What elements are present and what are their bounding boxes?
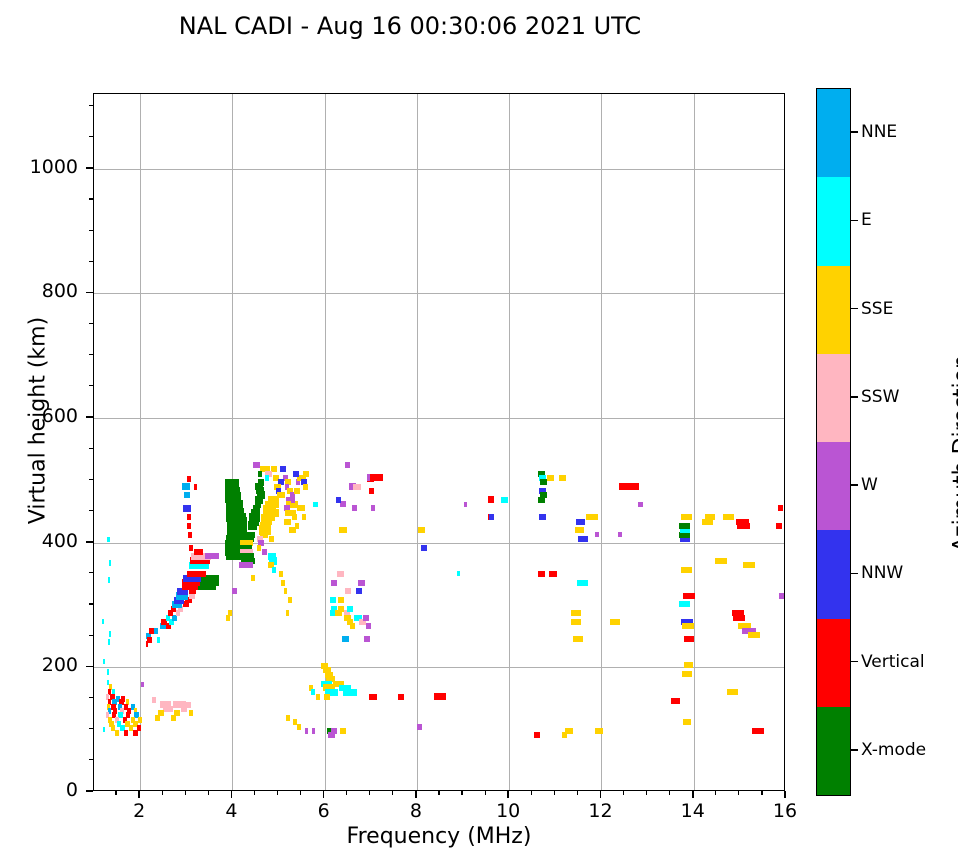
x-tick-minor [669, 791, 670, 795]
y-tick-minor [89, 354, 93, 355]
data-point [727, 689, 738, 695]
data-point [194, 549, 203, 555]
colorbar-tick [851, 749, 858, 751]
y-tick-minor [89, 572, 93, 573]
data-point [194, 484, 198, 490]
x-tick [138, 791, 140, 798]
data-point [311, 689, 316, 695]
colorbar-segment-nnw[interactable] [817, 530, 850, 618]
data-point [364, 636, 370, 642]
data-point [137, 725, 141, 731]
data-point [147, 637, 153, 643]
data-point [313, 502, 318, 507]
data-point [571, 619, 581, 625]
x-tick-minor [115, 791, 116, 795]
x-tick [784, 791, 786, 798]
data-point [107, 669, 109, 675]
data-point [272, 567, 277, 573]
y-tick-minor [89, 230, 93, 231]
data-point [343, 689, 358, 696]
colorbar-tick [851, 308, 858, 310]
data-point [363, 615, 369, 621]
data-point [595, 532, 600, 537]
x-tick-minor [715, 791, 716, 795]
data-point [705, 514, 715, 520]
x-tick-minor [208, 791, 209, 795]
plot-area[interactable] [93, 93, 785, 791]
data-point [559, 475, 566, 481]
data-point [345, 462, 351, 468]
y-tick-minor [89, 759, 93, 760]
data-point [303, 471, 309, 477]
data-point [316, 694, 320, 700]
data-point [638, 502, 643, 507]
data-point [679, 601, 690, 607]
data-point [292, 514, 297, 520]
data-point [682, 671, 692, 677]
colorbar-segment-x-mode[interactable] [817, 707, 850, 795]
data-point [339, 527, 347, 533]
x-tick-label: 8 [386, 800, 446, 822]
colorbar-label-nnw: NNW [861, 563, 903, 583]
x-tick-minor [646, 791, 647, 795]
x-tick-minor [554, 791, 555, 795]
data-point [539, 514, 545, 520]
data-point [330, 597, 336, 603]
page-title: NAL CADI - Aug 16 00:30:06 2021 UTC [0, 12, 820, 40]
data-point [184, 492, 190, 498]
data-point [115, 730, 120, 736]
colorbar-tick [851, 396, 858, 398]
data-point [743, 562, 755, 568]
data-point [286, 610, 289, 616]
x-tick [507, 791, 509, 798]
data-point [335, 610, 341, 616]
data-point [279, 571, 284, 577]
data-point [239, 562, 253, 568]
data-point [778, 505, 783, 511]
data-point [295, 523, 300, 529]
data-point [302, 514, 307, 520]
data-point [578, 536, 588, 542]
y-tick-minor [89, 479, 93, 480]
y-tick [86, 666, 93, 668]
x-tick-minor [531, 791, 532, 795]
x-tick [323, 791, 325, 798]
data-point [358, 580, 364, 586]
data-point [779, 593, 784, 599]
data-point [281, 580, 285, 586]
data-point [534, 732, 540, 738]
data-point [752, 728, 764, 734]
data-point [108, 639, 110, 645]
data-point [103, 727, 105, 732]
x-tick-minor [761, 791, 762, 795]
y-tick-minor [89, 323, 93, 324]
data-point [297, 724, 301, 730]
x-tick-minor [392, 791, 393, 795]
data-point [171, 715, 177, 721]
x-tick-minor [162, 791, 163, 795]
data-point [681, 567, 692, 573]
data-point [369, 488, 375, 494]
data-point [671, 698, 680, 704]
data-point [189, 545, 194, 551]
y-tick [86, 167, 93, 169]
data-point [748, 632, 760, 638]
colorbar-tick [851, 661, 858, 663]
y-tick [86, 541, 93, 543]
data-point [288, 597, 291, 603]
data-point [347, 606, 353, 612]
data-point [538, 497, 544, 503]
y-tick-minor [89, 136, 93, 137]
data-point [103, 659, 105, 664]
data-point [324, 694, 330, 700]
data-point [371, 505, 376, 511]
colorbar-label-sse: SSE [861, 299, 893, 319]
data-point [108, 577, 110, 583]
data-point [269, 536, 274, 542]
y-tick-minor [89, 385, 93, 386]
data-point [737, 523, 750, 529]
data-point [549, 571, 556, 577]
y-tick-label: 200 [8, 654, 78, 676]
data-point [157, 637, 161, 643]
y-tick-minor [89, 105, 93, 106]
x-tick-label: 10 [478, 800, 538, 822]
data-point [187, 514, 192, 520]
colorbar-tick [851, 573, 858, 575]
colorbar-segment-nne[interactable] [817, 89, 850, 177]
data-point [141, 682, 143, 687]
y-tick-minor [89, 697, 93, 698]
data-point [257, 545, 262, 551]
data-point [109, 631, 111, 637]
data-point [562, 732, 568, 738]
data-point [340, 728, 346, 734]
data-point [124, 730, 128, 736]
y-axis-label: Virtual height (km) [26, 241, 51, 601]
data-point [434, 693, 445, 700]
y-tick-minor [89, 261, 93, 262]
data-point [181, 706, 187, 712]
data-point [284, 519, 291, 525]
x-tick-minor [461, 791, 462, 795]
x-tick-label: 12 [570, 800, 630, 822]
data-point [540, 479, 546, 485]
data-point [248, 521, 257, 530]
data-point [258, 471, 263, 477]
x-tick [231, 791, 233, 798]
data-point [251, 575, 256, 581]
data-point [163, 706, 173, 712]
y-tick-minor [89, 635, 93, 636]
data-point [271, 466, 277, 472]
data-point [182, 483, 190, 490]
data-point [109, 560, 111, 566]
data-point [187, 523, 191, 529]
data-point [464, 502, 468, 507]
colorbar-segment-ssw[interactable] [817, 354, 850, 442]
colorbar-label-nne: NNE [861, 122, 897, 142]
data-point [293, 719, 297, 725]
x-tick-minor [300, 791, 301, 795]
data-point [205, 553, 219, 559]
x-tick-label: 2 [109, 800, 169, 822]
colorbar-label-ssw: SSW [861, 387, 899, 407]
x-tick-label: 14 [663, 800, 723, 822]
data-point [366, 623, 372, 629]
data-point [152, 697, 156, 703]
data-point [723, 514, 734, 520]
x-tick-minor [485, 791, 486, 795]
data-point [189, 710, 194, 716]
data-point [262, 549, 267, 555]
data-point [293, 471, 299, 477]
x-tick [415, 791, 417, 798]
data-point [337, 571, 344, 577]
data-point [187, 476, 190, 482]
data-point [138, 717, 142, 723]
x-tick-label: 6 [294, 800, 354, 822]
data-point [154, 628, 158, 634]
colorbar-segment-e[interactable] [817, 177, 850, 265]
y-tick [86, 416, 93, 418]
data-point [350, 623, 356, 629]
data-point [305, 728, 308, 734]
data-point [328, 732, 334, 738]
x-tick-label: 16 [755, 800, 815, 822]
x-tick-label: 4 [201, 800, 261, 822]
y-tick-label: 0 [8, 779, 78, 801]
x-axis-label: Frequency (MHz) [93, 824, 785, 849]
data-point [421, 545, 427, 551]
data-point [149, 628, 154, 634]
y-tick [86, 292, 93, 294]
x-tick-minor [577, 791, 578, 795]
data-point [418, 527, 425, 533]
x-tick-minor [277, 791, 278, 795]
data-point [489, 514, 494, 520]
colorbar-label-x-mode: X-mode [861, 740, 926, 760]
data-point [715, 558, 727, 564]
data-point [133, 730, 137, 736]
x-tick [692, 791, 694, 798]
colorbar-label-e: E [861, 210, 872, 230]
data-point [417, 724, 422, 730]
colorbar-label-vertical: Vertical [861, 652, 925, 672]
colorbar-segment-w[interactable] [817, 442, 850, 530]
x-tick-minor [185, 791, 186, 795]
data-point [352, 505, 358, 511]
x-tick-minor [738, 791, 739, 795]
y-tick [86, 790, 93, 792]
data-point [286, 715, 290, 721]
colorbar-label-w: W [861, 475, 878, 495]
data-point [294, 488, 300, 494]
x-tick [600, 791, 602, 798]
data-point [682, 623, 694, 629]
data-point [488, 496, 494, 503]
data-point [102, 619, 104, 624]
data-point [681, 514, 692, 520]
data-point [312, 728, 315, 734]
data-point [571, 610, 581, 616]
x-tick-minor [369, 791, 370, 795]
y-tick-label: 1000 [8, 156, 78, 178]
y-tick-minor [89, 603, 93, 604]
data-point [155, 715, 160, 721]
data-point [280, 466, 286, 472]
data-point [501, 497, 507, 503]
colorbar-tick [851, 131, 858, 133]
data-point [129, 725, 133, 731]
data-point [353, 484, 360, 490]
data-point [733, 615, 745, 621]
data-point [298, 505, 304, 511]
data-point [575, 527, 584, 533]
data-point [683, 593, 695, 599]
data-point [336, 497, 342, 503]
colorbar-tick [851, 484, 858, 486]
y-tick-minor [89, 510, 93, 511]
y-tick-minor [89, 448, 93, 449]
data-point [226, 615, 230, 621]
data-point [538, 571, 545, 577]
data-point [618, 532, 623, 537]
data-point [187, 571, 206, 577]
data-point [356, 588, 362, 594]
data-point [577, 580, 588, 586]
data-point [367, 474, 371, 481]
data-point [684, 636, 694, 642]
colorbar-segment-vertical[interactable] [817, 619, 850, 707]
data-point [265, 475, 269, 481]
data-point [619, 483, 638, 490]
data-point [398, 694, 404, 700]
data-point [331, 580, 337, 586]
data-point [369, 694, 376, 700]
data-point [291, 497, 295, 503]
x-tick-minor [623, 791, 624, 795]
data-point [684, 662, 693, 668]
data-point [303, 484, 308, 490]
data-point [679, 523, 689, 529]
data-point [232, 588, 237, 594]
data-point [547, 475, 554, 481]
data-point [586, 514, 598, 520]
y-tick-minor [89, 728, 93, 729]
y-tick-minor [89, 198, 93, 199]
data-point [183, 505, 190, 512]
data-point [338, 597, 344, 603]
data-point [107, 537, 110, 542]
data-point [573, 636, 583, 642]
colorbar[interactable] [816, 88, 851, 796]
data-point [284, 588, 287, 594]
data-point [683, 719, 691, 725]
colorbar-segment-sse[interactable] [817, 266, 850, 354]
x-tick-minor [254, 791, 255, 795]
data-point [345, 588, 351, 594]
colorbar-tick [851, 220, 858, 222]
data-point [188, 532, 193, 538]
scatter-data-layer [94, 94, 784, 790]
data-point [776, 523, 782, 529]
data-point [576, 519, 585, 525]
data-point [457, 571, 460, 576]
x-tick-minor [346, 791, 347, 795]
data-point [610, 619, 620, 625]
data-point [595, 728, 602, 734]
x-tick-minor [438, 791, 439, 795]
data-point [342, 636, 349, 642]
ionogram-figure: NAL CADI - Aug 16 00:30:06 2021 UTC 2468… [0, 0, 958, 857]
colorbar-title: Azimuth Direction [950, 274, 958, 634]
